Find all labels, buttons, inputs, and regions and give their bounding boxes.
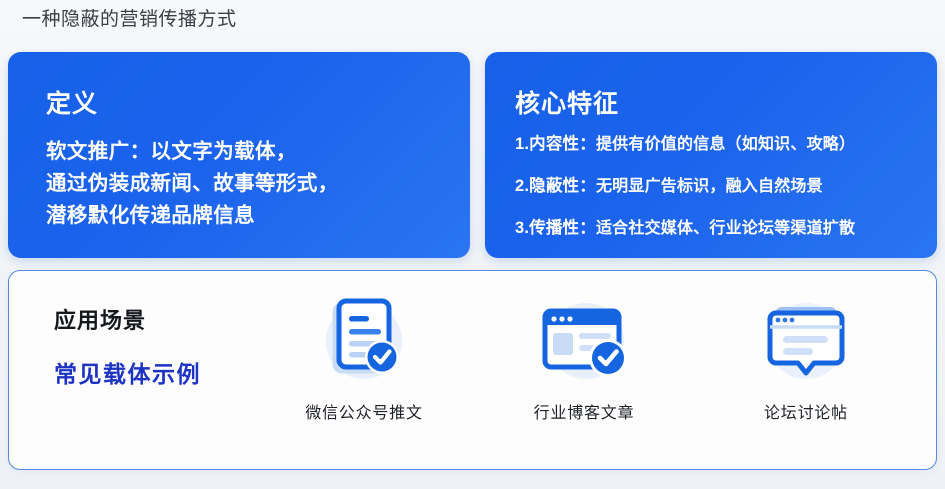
- feature-item-label: 2.隐蔽性：: [515, 177, 596, 195]
- scenarios-card-heading: 应用场景: [54, 303, 146, 335]
- definition-line: 通过伪装成新闻、故事等形式，: [46, 168, 446, 200]
- scenario-item-wechat-article[interactable]: 微信公众号推文: [284, 293, 444, 423]
- feature-item-desc: 提供有价值的信息（如知识、攻略）: [596, 136, 855, 153]
- core-features-card: 核心特征 1.内容性：提供有价值的信息（如知识、攻略） 2.隐蔽性：无明显广告标…: [485, 52, 937, 258]
- definition-line: 软文推广：以文字为载体，: [46, 136, 446, 168]
- definition-card-body: 软文推广：以文字为载体， 通过伪装成新闻、故事等形式， 潜移默化传递品牌信息: [46, 136, 446, 232]
- core-features-list: 1.内容性：提供有价值的信息（如知识、攻略） 2.隐蔽性：无明显广告标识，融入自…: [515, 134, 915, 258]
- scenario-label: 论坛讨论帖: [726, 399, 886, 423]
- core-features-card-heading: 核心特征: [515, 84, 619, 120]
- scenario-item-forum-thread[interactable]: 论坛讨论帖: [726, 293, 886, 423]
- feature-item-desc: 适合社交媒体、行业论坛等渠道扩散: [596, 220, 855, 237]
- feature-item-label: 3.传播性：: [515, 219, 596, 237]
- document-check-icon: [309, 293, 419, 393]
- feature-item: 3.传播性：适合社交媒体、行业论坛等渠道扩散: [515, 218, 915, 239]
- feature-item-label: 1.内容性：: [515, 135, 596, 153]
- definition-line: 潜移默化传递品牌信息: [46, 200, 446, 232]
- feature-item: 2.隐蔽性：无明显广告标识，融入自然场景: [515, 176, 915, 197]
- chat-bubble-window-icon: [751, 293, 861, 393]
- browser-window-check-icon: [529, 293, 639, 393]
- slide-canvas: 一种隐蔽的营销传播方式 定义 软文推广：以文字为载体， 通过伪装成新闻、故事等形…: [0, 0, 945, 489]
- definition-card: 定义 软文推广：以文字为载体， 通过伪装成新闻、故事等形式， 潜移默化传递品牌信…: [8, 52, 470, 258]
- feature-item-desc: 无明显广告标识，融入自然场景: [596, 178, 823, 195]
- page-title: 一种隐蔽的营销传播方式: [22, 6, 237, 34]
- application-scenarios-card: 应用场景 常见载体示例 微信公众号推文: [8, 270, 937, 470]
- definition-card-heading: 定义: [46, 84, 98, 120]
- scenario-label: 微信公众号推文: [284, 399, 444, 423]
- scenario-item-industry-blog[interactable]: 行业博客文章: [504, 293, 664, 423]
- feature-item: 1.内容性：提供有价值的信息（如知识、攻略）: [515, 134, 915, 155]
- scenario-label: 行业博客文章: [504, 399, 664, 423]
- scenarios-card-subheading: 常见载体示例: [54, 355, 201, 389]
